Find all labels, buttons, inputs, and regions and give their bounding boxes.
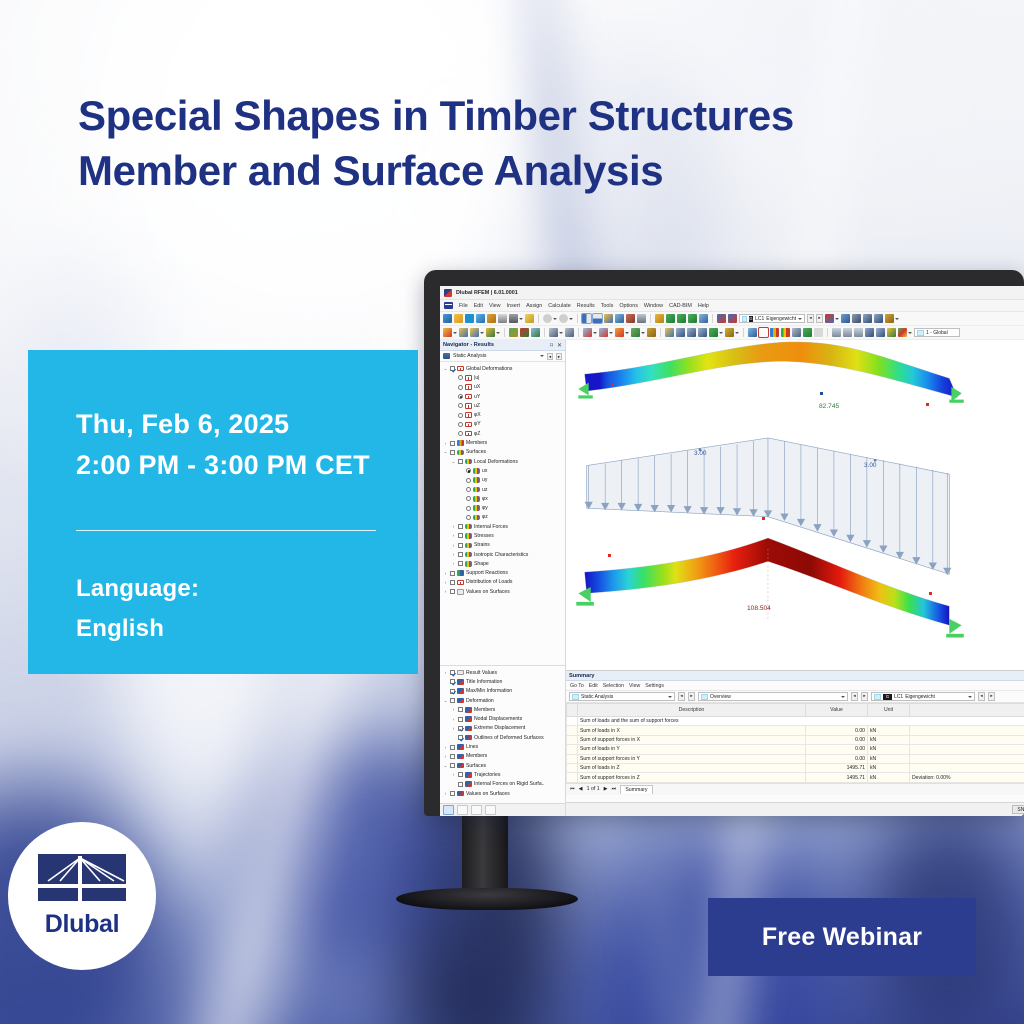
summary-menu-goto[interactable]: Go To [570,683,584,689]
tree-item-ux[interactable]: uX [440,383,565,392]
tree-item-label: Strains [474,542,490,548]
toolbar-row-2[interactable]: 1 - Global [440,326,1024,340]
member-results-icon[interactable] [770,328,779,337]
tree-item-internal-forces-on-rigid-surfa[interactable]: Internal Forces on Rigid Surfa.. [440,780,565,789]
summary-menu-view[interactable]: View [629,683,640,689]
navigator-tree-results[interactable]: ⌄Global Deformations|u|uXuYuZφXφYφZ›Memb… [440,362,565,665]
expand-icon[interactable]: › [443,754,448,759]
cloud-sync-icon[interactable] [476,314,485,323]
chevron-down-icon[interactable] [668,696,672,698]
tree-item-surfaces[interactable]: ⌄Surfaces [440,448,565,457]
view-photo-icon[interactable] [615,314,624,323]
result-sections-icon[interactable] [874,314,883,323]
building-model-icon[interactable] [676,328,685,337]
tree-item-distribution-of-loads[interactable]: ›Distribution of Loads [440,578,565,587]
radio-ux[interactable] [466,468,471,473]
info-divider [76,530,376,531]
table-row[interactable]: Sum of support forces in Z1495.71kNDevia… [567,773,1024,782]
tree-item-local-deformations[interactable]: ⌄Local Deformations [440,457,565,466]
cell-note [910,745,1024,754]
checkbox-deformation[interactable] [450,698,455,703]
summary-table[interactable]: Description Value Unit Sum of loads and … [566,703,1024,783]
expand-icon[interactable]: › [443,745,448,750]
checkbox-result-values[interactable] [450,670,455,675]
summary-lc-next[interactable]: ▸ [988,692,995,701]
close-icon[interactable]: ✕ [557,342,562,349]
checkbox-strains[interactable] [458,543,463,548]
monitor: Dlubal RFEM | 6.01.0001 File Edit View I… [424,270,1024,816]
expand-icon[interactable]: › [443,589,448,594]
dimension-icon[interactable] [665,328,674,337]
collapse-icon[interactable]: ⌄ [443,763,448,769]
cell-value: 0.00 [806,735,868,744]
checkbox-support-reactions[interactable] [450,571,455,576]
checkbox-outlines-of-deformed-surfaces[interactable] [458,735,463,740]
table-row[interactable]: Sum of support forces in Y0.00kN [567,754,1024,763]
grid-icon [465,384,472,390]
checkbox-title-information[interactable] [450,679,455,684]
printout-report-icon[interactable] [525,314,534,323]
table-row[interactable]: Sum of loads in Y0.00kN [567,745,1024,754]
tree-item-label: Deformation [466,698,494,704]
model-viewport[interactable]: 82.745 3.00 3.00 108.504 Summary Go To E… [566,340,1024,816]
collapse-icon[interactable]: ⌄ [443,698,448,704]
menu-item-window[interactable]: Window [644,303,663,309]
summary-footer[interactable]: ⏮ ◀ 1 of 1 ▶ ⏭ Summary [566,783,1024,795]
page-title-line-1: Special Shapes in Timber Structures [78,88,938,143]
checkbox-global-deformations[interactable] [450,366,455,371]
tree-item-stresses[interactable]: ›Stresses [440,531,565,540]
print-preview-icon[interactable] [626,314,635,323]
checkbox-members[interactable] [450,754,455,759]
tree-item-label: φY [474,421,481,427]
results-display-dropdown-icon[interactable] [835,318,839,320]
summary-menu[interactable]: Go To Edit Selection View Settings [566,681,1024,691]
summary-load-case-selector[interactable]: G LC1 Eigengewicht [871,692,975,701]
checkbox-distribution-of-loads[interactable] [450,580,455,585]
summary-analysis-next[interactable]: ▸ [688,692,695,701]
tree-item-label: uz [482,487,487,493]
tree-item-members[interactable]: ›Members [440,752,565,761]
summary-lc-prev[interactable]: ◂ [978,692,985,701]
isobands-icon[interactable] [843,328,852,337]
grid-icon [465,431,472,437]
expand-icon[interactable]: › [443,670,448,675]
surf-icon [465,533,472,539]
next-page-button[interactable]: ▶ [604,786,608,792]
pan-view-icon[interactable] [728,314,737,323]
dlubal-wordmark: Dlubal [45,910,120,939]
expand-icon[interactable]: › [443,441,448,446]
isolines-icon[interactable] [832,328,841,337]
collapse-icon[interactable]: ⌄ [443,366,448,372]
tree-item-shape[interactable]: ›Shape [440,559,565,568]
node-dropdown-icon[interactable] [453,332,457,334]
grid-icon [457,366,464,372]
redo-icon[interactable] [559,314,568,323]
cell-note [910,735,1024,744]
tree-item-label: Trajectories [474,772,500,778]
pin-icon[interactable]: ⌑ [550,342,553,349]
tree-item-label: Stresses [474,533,494,539]
smoothing-icon[interactable] [876,328,885,337]
checkbox-nodal-displacements[interactable] [458,717,463,722]
results-display-icon[interactable] [825,314,834,323]
print-dropdown-icon[interactable] [519,318,523,320]
val-icon [457,589,464,595]
tree-item-lines[interactable]: ›Lines [440,742,565,751]
zoom-window-icon[interactable] [688,314,697,323]
tree-item-trajectories[interactable]: ›Trajectories [440,770,565,779]
line-load-icon[interactable] [599,328,608,337]
tree-item-values-on-surfaces[interactable]: ›Values on Surfaces [440,789,565,798]
menu-item-tools[interactable]: Tools [601,303,614,309]
member-dropdown-icon[interactable] [480,332,484,334]
color-scale-dropdown-icon[interactable] [908,332,912,334]
tree-item-nodal-displacements[interactable]: ›Nodal Displacements [440,714,565,723]
line-load-dropdown-icon[interactable] [609,332,613,334]
summary-menu-settings[interactable]: Settings [645,683,664,689]
radio-z[interactable] [466,515,471,520]
radio-x[interactable] [458,413,463,418]
menu-item-assign[interactable]: Assign [526,303,542,309]
open-icon[interactable] [454,314,463,323]
section-icon[interactable] [698,328,707,337]
page-title: Special Shapes in Timber Structures Memb… [78,88,938,198]
cloud-icon[interactable] [465,314,474,323]
summary-tab[interactable]: Summary [620,785,652,794]
expand-icon[interactable]: › [451,561,456,566]
summary-col-unit: Unit [868,704,910,717]
expand-icon[interactable]: › [443,791,448,796]
summary-col-note [910,704,1024,717]
tree-item-extreme-displacement[interactable]: ›Extreme Displacement [440,724,565,733]
collapse-icon[interactable]: ⌄ [443,449,448,455]
grid-results-icon[interactable] [759,328,768,337]
checkbox-shape[interactable] [458,561,463,566]
summary-group-row: Sum of loads and the sum of support forc… [567,717,1024,726]
navigator-tab-display-icon[interactable] [457,805,468,815]
checkbox-isotropic-characteristics[interactable] [458,552,463,557]
rotate-view-icon[interactable] [717,314,726,323]
collapse-icon[interactable]: ⌄ [451,459,456,465]
window-split-vertical-icon[interactable] [582,314,591,323]
navigator-analysis-selector[interactable]: Static Analysis ◂ ▸ [440,351,565,362]
model-canvas[interactable]: 82.745 3.00 3.00 108.504 [566,340,1024,670]
radio-u[interactable] [458,375,463,380]
calculate-icon[interactable] [725,328,734,337]
navigator-tab-data-icon[interactable] [485,805,496,815]
summary-analysis-prev[interactable]: ◂ [678,692,685,701]
tree-item-y[interactable]: φy [440,503,565,512]
checkbox-extreme-displacement[interactable] [458,726,463,731]
tree-item-z[interactable]: φZ [440,429,565,438]
navigator-tab-views-icon[interactable] [471,805,482,815]
summary-mode-next[interactable]: ▸ [861,692,868,701]
table-row[interactable]: Sum of loads in X0.00kN [567,726,1024,735]
cell-value: 1495.71 [806,773,868,782]
menu-item-help[interactable]: Help [698,303,709,309]
tree-item-isotropic-characteristics[interactable]: ›Isotropic Characteristics [440,550,565,559]
cell-note [910,754,1024,763]
support-forces-icon[interactable] [852,314,861,323]
result-tables-dropdown-icon[interactable] [895,318,899,320]
checkbox-members[interactable] [450,441,455,446]
tree-item-values-on-surfaces[interactable]: ›Values on Surfaces [440,587,565,596]
radio-uy[interactable] [466,478,471,483]
load-case-color-swatch [742,316,747,322]
toolbar-separator [578,328,579,337]
val-icon [457,670,464,676]
radio-z[interactable] [458,431,463,436]
table-row[interactable]: Sum of loads in Z1495.71kN [567,763,1024,772]
tree-item-surfaces[interactable]: ⌄Surfaces [440,761,565,770]
snap-toggle[interactable]: SNAP [1012,805,1024,814]
tree-item-strains[interactable]: ›Strains [440,541,565,550]
checkbox-local-deformations[interactable] [458,459,463,464]
language-label: Language: [76,575,418,603]
checkbox-lines[interactable] [450,745,455,750]
isosurfaces-icon[interactable] [854,328,863,337]
tree-item-outlines-of-deformed-surfaces[interactable]: Outlines of Deformed Surfaces [440,733,565,742]
measure-icon[interactable] [655,314,664,323]
radio-uz[interactable] [458,403,463,408]
node-icon[interactable] [443,328,452,337]
nodal-load-dropdown-icon[interactable] [593,332,597,334]
radio-y[interactable] [458,422,463,427]
menu-item-view[interactable]: View [489,303,501,309]
bottom-right-support-base [946,634,964,638]
load-case-next-button[interactable]: ▸ [816,314,823,323]
opening-icon[interactable] [520,328,529,337]
chevron-down-icon[interactable] [841,696,845,698]
expand-icon[interactable]: › [443,571,448,576]
prev-page-button[interactable]: ◀ [579,786,583,792]
view-selector[interactable]: 1 - Global [914,328,960,337]
first-page-button[interactable]: ⏮ [570,786,575,793]
storey-icon[interactable] [687,328,696,337]
expand-icon[interactable]: › [451,552,456,557]
checkbox-internal-forces-on-rigid-surfa[interactable] [458,782,463,787]
tree-item-max-min-information[interactable]: Max/Min Information [440,687,565,696]
analysis-next-button[interactable]: ▸ [556,353,562,360]
tree-item-label: Members [474,707,495,713]
toolbar-separator [577,314,578,323]
navigator-tab-results-icon[interactable] [443,805,454,815]
navigator-tab-buttons[interactable] [440,803,565,816]
surface-icon[interactable] [486,328,495,337]
checkbox-surfaces[interactable] [450,450,455,455]
radio-uz[interactable] [466,487,471,492]
tree-item-y[interactable]: φY [440,420,565,429]
support-reaction-icon[interactable] [803,328,812,337]
member-icon[interactable] [470,328,479,337]
result-tables-icon[interactable] [885,314,894,323]
result-values-icon[interactable] [865,328,874,337]
tree-item-members[interactable]: ›Members [440,705,565,714]
nodal-support-dropdown-icon[interactable] [559,332,563,334]
tree-item-uy[interactable]: uy [440,476,565,485]
summary-analysis-selector[interactable]: Static Analysis [569,692,675,701]
tree-item-ux[interactable]: ux [440,466,565,475]
surface-results-icon[interactable] [781,328,790,337]
contact-icon[interactable] [531,328,540,337]
last-page-button[interactable]: ⏭ [612,786,617,793]
cell-description: Sum of loads in Y [578,745,806,754]
generate-mesh-dropdown-icon[interactable] [719,332,723,334]
tree-item-title-information[interactable]: Title Information [440,677,565,686]
cell-unit: kN [868,773,910,782]
tree-item-result-values[interactable]: ›Result Values [440,668,565,677]
checkbox-trajectories[interactable] [458,772,463,777]
tree-item-x[interactable]: φX [440,410,565,419]
res-icon [457,688,464,694]
menu-item-cadbim[interactable]: CAD-BIM [669,303,692,309]
lock-icon[interactable] [487,314,496,323]
imperfection-icon[interactable] [647,328,656,337]
node-marker-top-left [611,383,614,386]
menu-item-edit[interactable]: Edit [474,303,483,309]
deformation-icon[interactable] [841,314,850,323]
surface-load-dropdown-icon[interactable] [625,332,629,334]
free-load-icon[interactable] [631,328,640,337]
analysis-prev-button[interactable]: ◂ [547,353,553,360]
expand-icon[interactable]: › [451,772,456,777]
summary-menu-edit[interactable]: Edit [589,683,598,689]
expand-icon[interactable]: › [451,533,456,538]
menu-item-file[interactable]: File [459,303,468,309]
tree-item-label: φX [474,412,481,418]
checkbox-values-on-surfaces[interactable] [450,589,455,594]
tree-item-uy[interactable]: uY [440,392,565,401]
chevron-down-icon[interactable] [798,318,802,320]
save-icon[interactable] [498,314,507,323]
radio-x[interactable] [466,496,471,501]
radio-ux[interactable] [458,385,463,390]
checkbox-values-on-surfaces[interactable] [450,791,455,796]
tree-item-global-deformations[interactable]: ⌄Global Deformations [440,364,565,373]
zoom-all-icon[interactable] [699,314,708,323]
expand-icon[interactable]: › [451,726,456,731]
menu-item-insert[interactable]: Insert [507,303,520,309]
rfem-application-window: Dlubal RFEM | 6.01.0001 File Edit View I… [440,286,1024,816]
result-diagram-icon[interactable] [863,314,872,323]
surf-icon [465,524,472,530]
cell-value: 0.00 [806,745,868,754]
chevron-down-icon[interactable] [540,355,544,357]
radio-uy[interactable] [458,394,463,399]
cell-value: 0.00 [806,754,868,763]
tree-item-uz[interactable]: uZ [440,401,565,410]
window-split-horizontal-icon[interactable] [593,314,602,323]
checkbox-members[interactable] [458,707,463,712]
summary-menu-selection[interactable]: Selection [603,683,624,689]
chevron-down-icon[interactable] [968,696,972,698]
menu-item-results[interactable]: Results [577,303,595,309]
row-index [567,717,578,726]
event-info-panel: Thu, Feb 6, 2025 2:00 PM - 3:00 PM CET L… [28,350,418,674]
load-case-prev-button[interactable]: ◂ [807,314,814,323]
line-icon[interactable] [459,328,468,337]
tree-item-label: Internal Forces [474,524,508,530]
calculate-dropdown-icon[interactable] [735,332,739,334]
toolbar-row-1[interactable]: G LC1 Eigengewicht ◂ ▸ [440,312,1024,326]
summary-selectors[interactable]: Static Analysis ◂ ▸ Overview ◂ ▸ [566,691,1024,703]
tree-item-label: Values on Surfaces [466,589,510,595]
nodal-support-icon[interactable] [549,328,558,337]
tree-item-uz[interactable]: uz [440,485,565,494]
undo-icon[interactable] [543,314,552,323]
summary-mode-selector[interactable]: Overview [698,692,848,701]
bottom-right-support [949,619,961,634]
tree-item-x[interactable]: φx [440,494,565,503]
menu-bar[interactable]: File Edit View Insert Assign Calculate R… [440,300,1024,312]
redo-dropdown-icon[interactable] [569,318,573,320]
nodal-load-icon[interactable] [583,328,592,337]
list-view-icon[interactable] [637,314,646,323]
color-scale-icon[interactable] [898,328,907,337]
new-model-icon[interactable] [443,314,452,323]
menu-item-options[interactable]: Options [619,303,638,309]
checkbox-stresses[interactable] [458,533,463,538]
solid-icon[interactable] [509,328,518,337]
free-webinar-button[interactable]: Free Webinar [708,898,976,976]
line-results-icon[interactable] [814,328,823,337]
free-load-dropdown-icon[interactable] [641,332,645,334]
line-support-icon[interactable] [565,328,574,337]
zoom-in-icon[interactable] [666,314,675,323]
expand-icon[interactable]: › [451,543,456,548]
expand-icon[interactable]: › [451,524,456,529]
radio-y[interactable] [466,506,471,511]
result-legend-icon[interactable] [887,328,896,337]
tree-item-internal-forces[interactable]: ›Internal Forces [440,522,565,531]
expand-icon[interactable]: › [443,580,448,585]
checkbox-max-min-information[interactable] [450,689,455,694]
undo-dropdown-icon[interactable] [553,318,557,320]
summary-mode-prev[interactable]: ◂ [851,692,858,701]
expand-icon[interactable]: › [451,707,456,712]
top-right-support-base [949,400,963,403]
page-title-line-2: Member and Surface Analysis [78,143,938,198]
print-icon[interactable] [509,314,518,323]
solid-results-icon[interactable] [792,328,801,337]
zoom-out-icon[interactable] [677,314,686,323]
render-mode-icon[interactable] [604,314,613,323]
summary-lc-swatch [874,694,881,700]
checkbox-surfaces[interactable] [450,763,455,768]
table-row[interactable]: Sum of support forces in X0.00kN [567,735,1024,744]
checkbox-internal-forces[interactable] [458,524,463,529]
tree-item-z[interactable]: φz [440,513,565,522]
expand-icon[interactable]: › [451,717,456,722]
tree-item-u[interactable]: |u| [440,373,565,382]
surface-dropdown-icon[interactable] [496,332,500,334]
load-case-selector[interactable]: G LC1 Eigengewicht [739,314,805,323]
generate-mesh-icon[interactable] [709,328,718,337]
navigator-tree-display[interactable]: ›Result ValuesTitle InformationMax/Min I… [440,665,565,803]
surface-load-icon[interactable] [615,328,624,337]
load-label-right: 3.00 [864,462,876,469]
menu-item-calculate[interactable]: Calculate [548,303,570,309]
tree-item-deformation[interactable]: ⌄Deformation [440,696,565,705]
tree-item-label: φx [482,496,488,502]
tree-item-members[interactable]: ›Members [440,438,565,447]
event-date: Thu, Feb 6, 2025 [76,404,418,445]
global-deformation-icon[interactable] [748,328,757,337]
navigator-title: Navigator - Results [443,342,494,348]
tree-item-support-reactions[interactable]: ›Support Reactions [440,569,565,578]
